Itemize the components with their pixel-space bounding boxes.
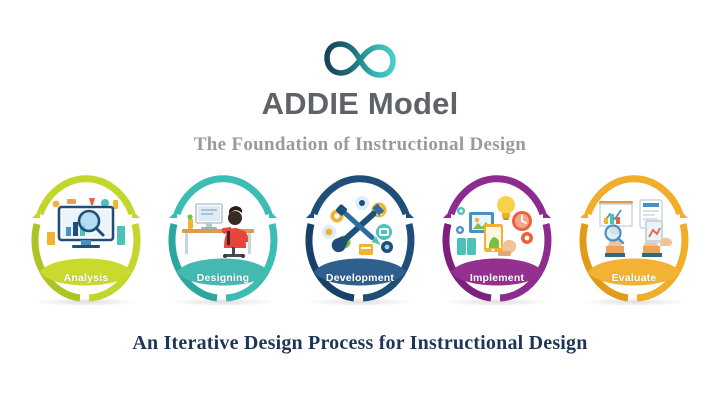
stage-implement[interactable]: Implement bbox=[431, 172, 563, 308]
review-charts-icon bbox=[591, 194, 677, 258]
stage-label-shape bbox=[312, 252, 408, 292]
footer-caption: An Iterative Design Process for Instruct… bbox=[0, 332, 720, 355]
stage-analysis[interactable]: Analysis bbox=[20, 172, 152, 308]
page-subtitle: The Foundation of Instructional Design bbox=[0, 134, 720, 156]
devices-idea-icon bbox=[454, 194, 540, 258]
stage-development[interactable]: Development bbox=[294, 172, 426, 308]
infinity-icon bbox=[0, 38, 720, 82]
stage-label-shape bbox=[175, 252, 271, 292]
poster-footer: An Iterative Design Process for Instruct… bbox=[0, 332, 720, 355]
stage-label-shape bbox=[38, 252, 134, 292]
poster-header: ADDIE Model The Foundation of Instructio… bbox=[0, 0, 720, 156]
monitor-magnifier-icon bbox=[43, 194, 129, 258]
stage-designing[interactable]: Designing bbox=[157, 172, 289, 308]
tools-gears-icon bbox=[317, 194, 403, 258]
page-title: ADDIE Model bbox=[0, 86, 720, 122]
desk-worker-icon bbox=[180, 194, 266, 258]
stage-evaluate[interactable]: Evaluate bbox=[568, 172, 700, 308]
stage-label-shape bbox=[586, 252, 682, 292]
stage-label-shape bbox=[449, 252, 545, 292]
addie-stage-row: Analysis bbox=[0, 172, 720, 312]
addie-model-poster: ADDIE Model The Foundation of Instructio… bbox=[0, 0, 720, 404]
